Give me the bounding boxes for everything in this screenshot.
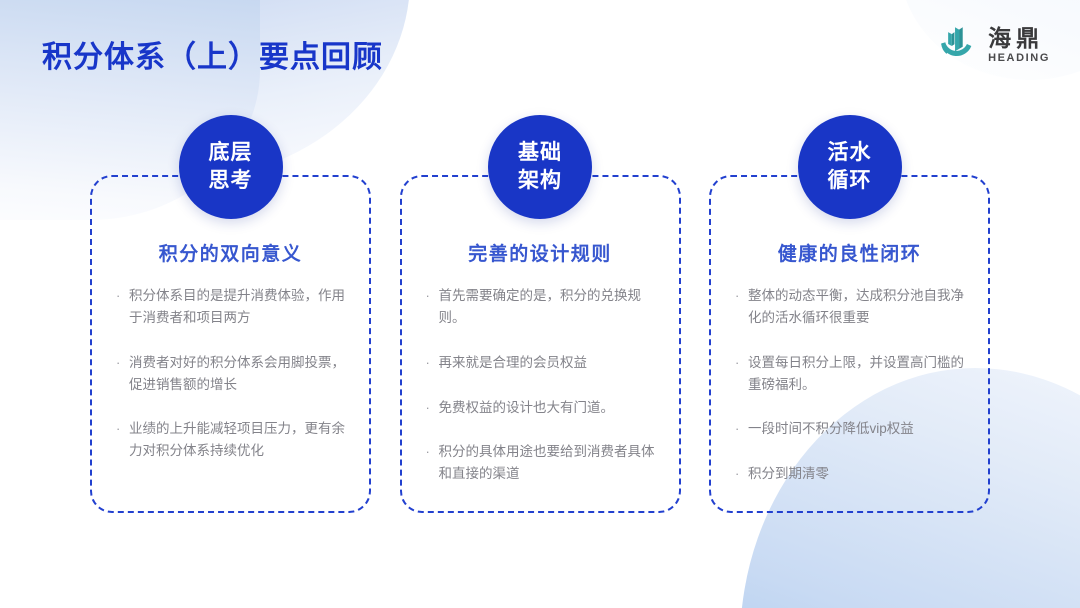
card-bullet-list: · 积分体系目的是提升消费体验，作用于消费者和项目两方 · 消费者对好的积分体系… [116,285,351,462]
bullet-marker-icon: · [426,352,439,374]
list-item: · 业绩的上升能减轻项目压力，更有余力对积分体系持续优化 [116,418,351,462]
list-item: · 一段时间不积分降低vip权益 [735,418,970,440]
list-item: · 消费者对好的积分体系会用脚投票，促进销售额的增长 [116,352,351,396]
list-item-text: 设置每日积分上限，并设置高门槛的重磅福利。 [748,352,970,396]
bullet-marker-icon: · [116,418,129,462]
list-item: · 首先需要确定的是，积分的兑换规则。 [426,285,661,329]
card-badge: 底层 思考 [179,115,283,219]
list-item-text: 首先需要确定的是，积分的兑换规则。 [439,285,661,329]
card-heading: 健康的良性闭环 [711,239,988,266]
card-bullet-list: · 首先需要确定的是，积分的兑换规则。 · 再来就是合理的会员权益 · 免费权益… [426,285,661,485]
bullet-marker-icon: · [426,397,439,419]
brand-logo: 海鼎 HEADING [933,22,1050,68]
list-item-text: 业绩的上升能减轻项目压力，更有余力对积分体系持续优化 [129,418,351,462]
page-title: 积分体系（上）要点回顾 [42,32,383,76]
list-item: · 设置每日积分上限，并设置高门槛的重磅福利。 [735,352,970,396]
card-water-circulation[interactable]: 活水 循环 健康的良性闭环 · 整体的动态平衡，达成积分池自我净化的活水循环很重… [709,175,990,513]
list-item: · 积分到期清零 [735,463,970,485]
card-foundation-thinking[interactable]: 底层 思考 积分的双向意义 · 积分体系目的是提升消费体验，作用于消费者和项目两… [90,175,371,513]
heading-logo-mark-icon [933,22,979,68]
card-base-architecture[interactable]: 基础 架构 完善的设计规则 · 首先需要确定的是，积分的兑换规则。 · 再来就是… [400,175,681,513]
bullet-marker-icon: · [735,285,748,329]
list-item-text: 免费权益的设计也大有门道。 [439,397,661,419]
bullet-marker-icon: · [426,285,439,329]
brand-name-cn: 海鼎 [988,27,1044,50]
bullet-marker-icon: · [116,352,129,396]
slide-canvas: 积分体系（上）要点回顾 海鼎 HEADING 底层 思考 积分的双向意义 · [0,0,1080,608]
brand-name-en: HEADING [988,53,1050,64]
list-item: · 再来就是合理的会员权益 [426,352,661,374]
list-item-text: 积分体系目的是提升消费体验，作用于消费者和项目两方 [129,285,351,329]
card-badge-line2: 思考 [209,167,253,195]
card-badge-line2: 架构 [518,167,562,195]
card-heading: 积分的双向意义 [92,239,369,266]
bullet-marker-icon: · [116,285,129,329]
list-item: · 免费权益的设计也大有门道。 [426,397,661,419]
list-item-text: 积分到期清零 [748,463,970,485]
card-badge-line2: 循环 [828,167,872,195]
card-badge: 活水 循环 [798,115,902,219]
brand-wordmark: 海鼎 HEADING [988,27,1050,64]
card-row: 底层 思考 积分的双向意义 · 积分体系目的是提升消费体验，作用于消费者和项目两… [90,175,990,513]
list-item-text: 再来就是合理的会员权益 [439,352,661,374]
list-item-text: 消费者对好的积分体系会用脚投票，促进销售额的增长 [129,352,351,396]
bullet-marker-icon: · [735,352,748,396]
list-item: · 积分体系目的是提升消费体验，作用于消费者和项目两方 [116,285,351,329]
card-badge-line1: 底层 [209,139,253,167]
card-badge: 基础 架构 [488,115,592,219]
card-heading: 完善的设计规则 [402,239,679,266]
card-badge-line1: 基础 [518,139,562,167]
list-item-text: 整体的动态平衡，达成积分池自我净化的活水循环很重要 [748,285,970,329]
bullet-marker-icon: · [735,418,748,440]
bullet-marker-icon: · [735,463,748,485]
list-item: · 积分的具体用途也要给到消费者具体和直接的渠道 [426,441,661,485]
list-item-text: 积分的具体用途也要给到消费者具体和直接的渠道 [439,441,661,485]
list-item: · 整体的动态平衡，达成积分池自我净化的活水循环很重要 [735,285,970,329]
list-item-text: 一段时间不积分降低vip权益 [748,418,970,440]
bullet-marker-icon: · [426,441,439,485]
card-bullet-list: · 整体的动态平衡，达成积分池自我净化的活水循环很重要 · 设置每日积分上限，并… [735,285,970,485]
card-badge-line1: 活水 [828,139,872,167]
